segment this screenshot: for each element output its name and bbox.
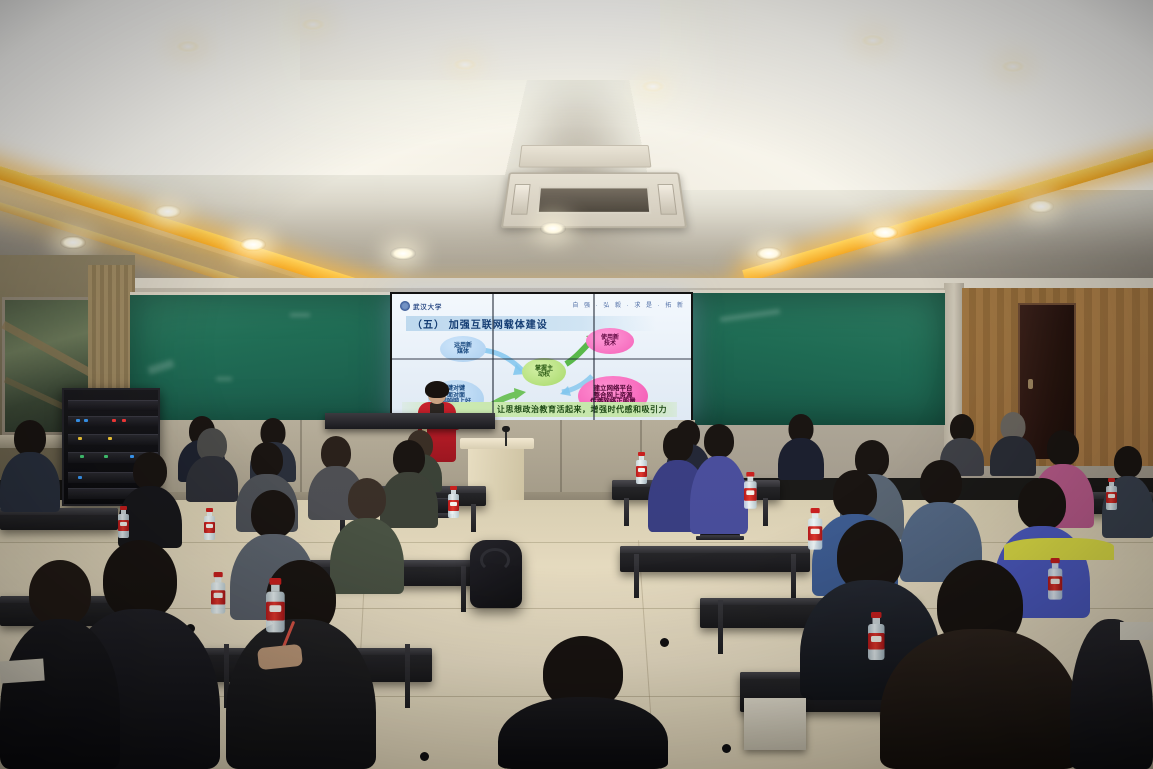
paper-box	[744, 698, 806, 750]
chalkboard-right	[690, 290, 945, 425]
person-torso	[226, 619, 376, 769]
downlight	[390, 247, 416, 260]
ceiling-vent-plate	[519, 145, 652, 168]
laptop-base	[696, 536, 744, 540]
slide-logo: 武汉大学	[400, 300, 476, 312]
downlight	[452, 58, 478, 71]
person-torso	[990, 436, 1036, 476]
downlight	[860, 34, 886, 47]
bottle-cap	[269, 578, 281, 585]
chalkboard-glare	[147, 359, 174, 375]
presenter-hair	[425, 381, 449, 398]
person-torso	[880, 629, 1080, 769]
person-accent-stripe	[1004, 538, 1114, 560]
desk-leg	[791, 554, 796, 598]
bottle-label	[808, 526, 822, 540]
status-led	[78, 476, 82, 479]
slide-bubble-initiative: 掌握主 动权	[522, 358, 566, 386]
slide-footer-text: 让思想政治教育活起来，增强时代感和吸引力	[497, 404, 677, 415]
downlight	[60, 236, 86, 249]
videowall-bezel	[392, 358, 691, 360]
ceiling-air-conditioner	[501, 172, 687, 228]
person-head	[348, 478, 386, 520]
audience-member-foreground	[498, 636, 668, 769]
bottle-label	[1106, 492, 1117, 503]
bottle-label	[744, 488, 757, 501]
ac-vane-left	[511, 184, 531, 215]
status-led	[76, 419, 80, 422]
status-led	[104, 455, 108, 458]
person-torso	[498, 697, 668, 769]
bottle-label	[636, 466, 647, 477]
lectern-top	[460, 438, 534, 449]
front-console-desk	[325, 413, 495, 429]
status-led	[112, 419, 116, 422]
person-head	[14, 420, 46, 456]
university-seal-icon	[400, 301, 410, 311]
door-handle[interactable]	[1028, 379, 1033, 389]
person-torso	[0, 619, 120, 769]
status-led	[84, 419, 88, 422]
desk-leg	[461, 566, 466, 612]
desk-leg	[763, 498, 768, 526]
person-head	[704, 424, 734, 458]
desk-leg	[634, 554, 639, 598]
person-head	[133, 452, 167, 490]
wall-seam	[300, 420, 302, 492]
person-torso	[1070, 619, 1153, 769]
audience-member-foreground	[226, 560, 376, 769]
backpack-strap	[480, 548, 510, 572]
downlight	[640, 80, 666, 93]
status-led	[80, 455, 84, 458]
chair-caster	[722, 744, 731, 753]
ac-grille	[537, 187, 651, 214]
desk-leg	[471, 504, 476, 532]
ceiling	[0, 0, 1153, 290]
wall-trim	[0, 278, 1153, 288]
audience-member	[690, 424, 748, 534]
person-head	[393, 440, 425, 476]
person-head	[833, 470, 877, 518]
backpack	[470, 540, 522, 608]
bottle-label	[204, 522, 215, 533]
desk-leg	[718, 600, 723, 654]
paper-sheet	[1120, 622, 1153, 640]
downlight	[1028, 200, 1054, 213]
audience-member	[0, 420, 60, 512]
downlight	[155, 205, 181, 218]
person-torso	[0, 452, 60, 512]
status-led	[78, 437, 82, 440]
audience-member	[990, 412, 1036, 476]
person-head	[29, 560, 91, 626]
bottle-neck	[271, 585, 280, 592]
ac-vane-right	[657, 184, 677, 215]
microphone-icon	[502, 426, 510, 432]
chalkboard-left	[130, 292, 392, 423]
downlight	[1000, 60, 1026, 73]
audience-member-accent	[1004, 520, 1114, 560]
paper-sheet	[0, 658, 45, 683]
downlight	[540, 222, 566, 235]
hand	[257, 644, 303, 670]
downlight	[300, 18, 326, 31]
ceiling-light-panel-right	[606, 0, 1153, 190]
desk-surface	[620, 546, 810, 553]
person-head	[1114, 446, 1142, 478]
ceiling-light-panel-center	[300, 0, 660, 80]
desk-leg	[405, 644, 410, 708]
wall-seam	[560, 420, 562, 492]
person-head	[251, 442, 283, 478]
microphone-stand	[505, 430, 507, 446]
university-name: 武汉大学	[413, 301, 442, 311]
person-head	[663, 428, 693, 462]
person-head	[321, 436, 351, 470]
bottle-label	[266, 602, 285, 621]
chalkboard-glare	[720, 309, 780, 322]
chalkboard-glare	[290, 313, 310, 317]
person-torso	[690, 456, 748, 534]
bottle-label	[448, 500, 459, 511]
downlight	[240, 238, 266, 251]
status-led	[122, 419, 126, 422]
slide-motto: 自 强 · 弘 毅 · 求 是 · 拓 新	[572, 300, 685, 309]
chair-caster	[420, 752, 429, 761]
desk	[620, 546, 810, 572]
slide-title-text: （五） 加强互联网载体建设	[406, 316, 548, 331]
bottle-label	[118, 520, 129, 531]
bottle-label	[868, 633, 885, 650]
downlight	[872, 226, 898, 239]
chalkboard-glare	[216, 377, 232, 381]
person-head	[251, 490, 295, 538]
bottle-label	[211, 590, 225, 604]
person-head	[1047, 430, 1079, 466]
lecture-hall-photo: 武汉大学 自 强 · 弘 毅 · 求 是 · 拓 新 （五） 加强互联网载体建设	[0, 0, 1153, 769]
desk-leg	[624, 498, 629, 526]
downlight	[756, 247, 782, 260]
bottle-label	[1048, 576, 1062, 590]
status-led	[108, 437, 112, 440]
rack-unit	[68, 400, 158, 411]
person-head	[920, 460, 962, 506]
downlight	[175, 40, 201, 53]
